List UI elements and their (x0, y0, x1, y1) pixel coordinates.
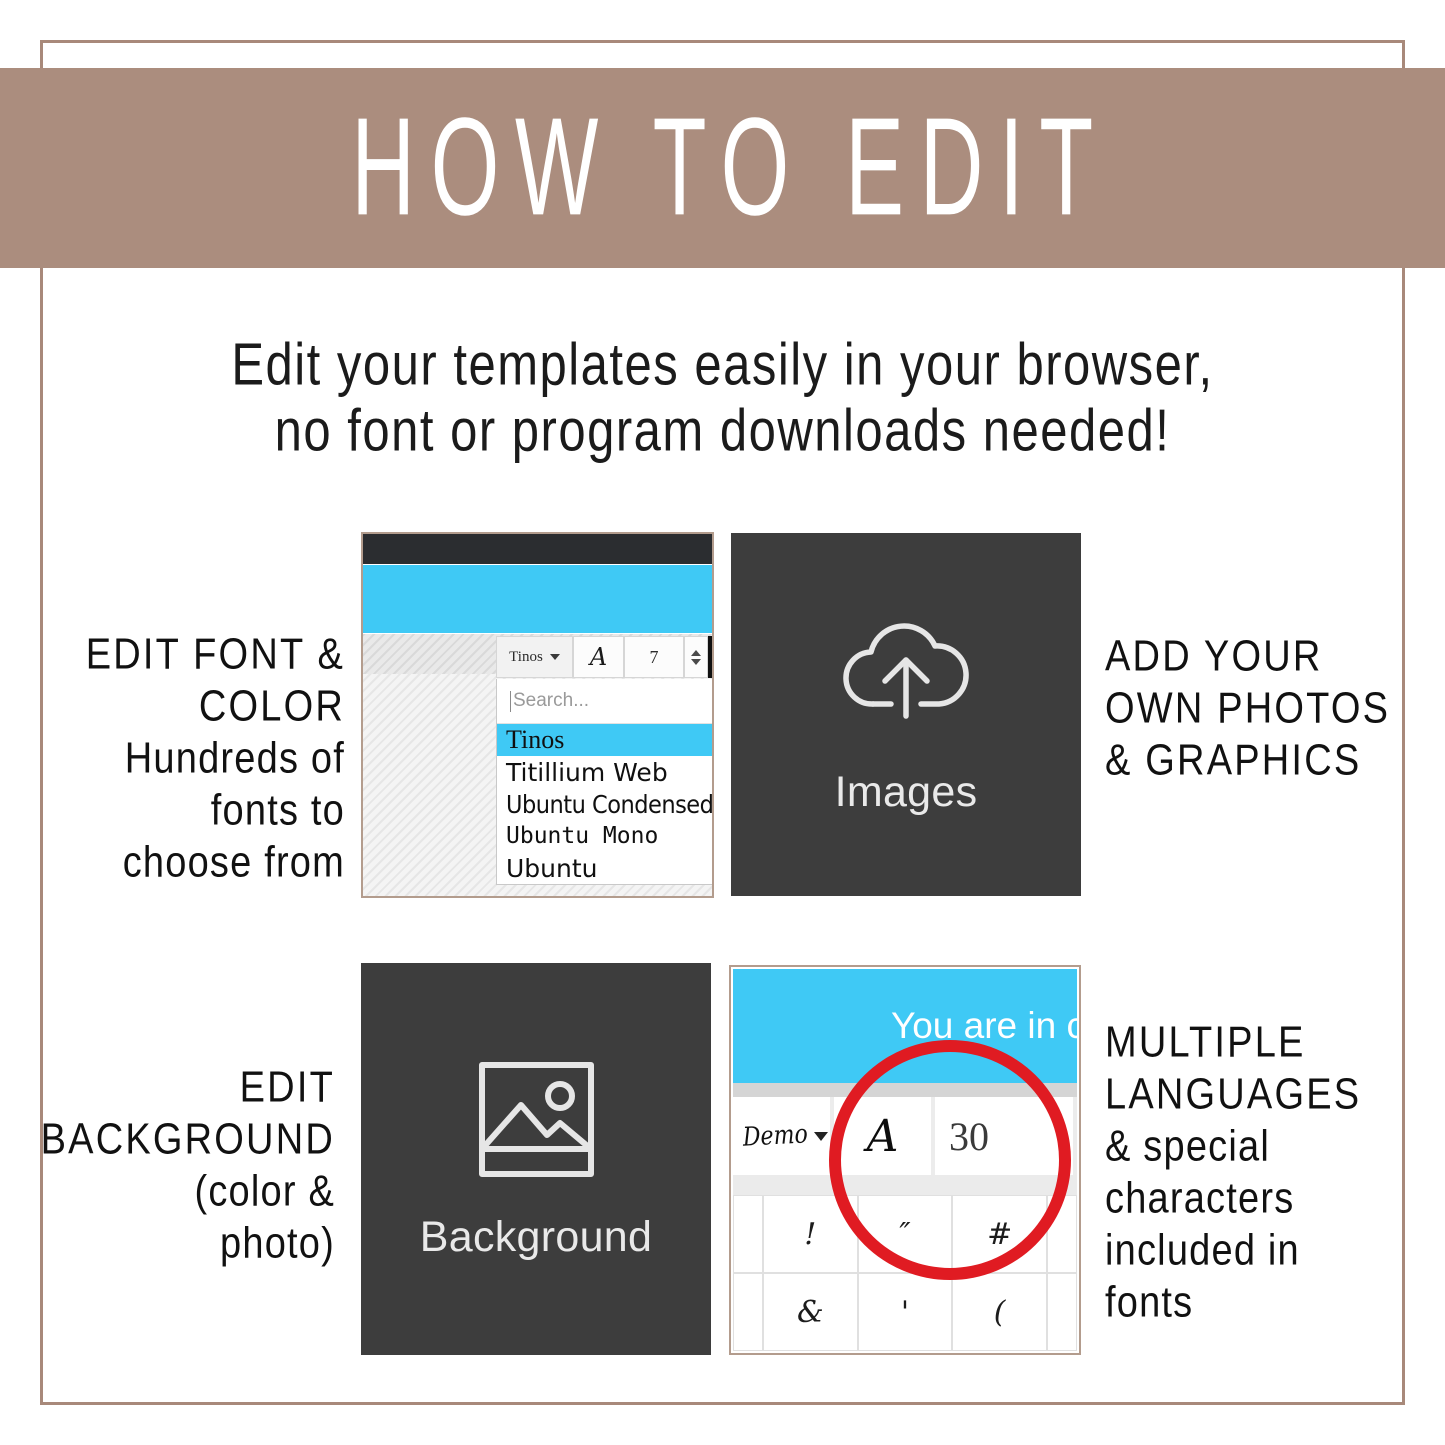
script-a-icon: A (590, 643, 607, 671)
cloud-upload-icon (821, 612, 991, 742)
character-cell[interactable]: ( (952, 1273, 1047, 1351)
font-toolbar: Tinos A 7 (496, 636, 714, 678)
character-cell[interactable]: # (952, 1195, 1047, 1273)
caption-line: & GRAPHICS (1105, 731, 1435, 791)
font-list-item-label: Ubuntu Condensed (506, 790, 713, 819)
subtitle-line-2: no font or program downloads needed! (0, 398, 1445, 464)
font-search-input[interactable]: Search... (497, 679, 714, 724)
character-cell[interactable]: & (763, 1273, 858, 1351)
font-size-input[interactable]: 30 (935, 1097, 1077, 1175)
screenshot-character-map: You are in c Demo A 30 ! ″ # & ' ( (729, 965, 1081, 1355)
images-tile-label: Images (835, 768, 978, 817)
font-list-item-label: Ubuntu Mono (506, 823, 658, 849)
font-preview-glyph-button[interactable]: A (573, 636, 624, 678)
font-list-item[interactable]: Titillium Web (497, 756, 714, 788)
font-name-dropdown[interactable]: Tinos (496, 636, 573, 678)
font-name-label: Tinos (509, 649, 543, 666)
caption-line: COLOR (86, 677, 345, 737)
font-size-stepper[interactable] (684, 636, 708, 678)
stepper-up-icon[interactable] (691, 650, 701, 656)
toolbar-divider (733, 1083, 1077, 1097)
toolbar-color-swatch[interactable] (708, 636, 714, 678)
character-cell[interactable] (1047, 1195, 1077, 1273)
font-name-label: Demo (742, 1119, 809, 1152)
caption-line: (color & (41, 1162, 335, 1222)
font-list-item[interactable]: Tinos (497, 724, 714, 756)
font-list-item-label: Titillium Web (506, 758, 668, 787)
header-banner: HOW TO EDIT (0, 68, 1445, 268)
character-cell[interactable]: ! (763, 1195, 858, 1273)
text-cursor-icon (510, 691, 511, 712)
font-name-dropdown[interactable]: Demo (733, 1097, 834, 1175)
caption-line: Hundreds of (86, 729, 345, 789)
editor-accent-band (363, 565, 712, 633)
screenshot-background-tile[interactable]: Background (361, 963, 711, 1355)
caption-line: choose from (86, 833, 345, 893)
character-map-toolbar: Demo A 30 (733, 1097, 1077, 1175)
editor-accent-banner: You are in c (733, 969, 1077, 1083)
font-size-value: 30 (949, 1113, 989, 1160)
font-list-item-label: Tinos (506, 725, 564, 755)
screenshot-font-picker: Tinos A 7 Search... Tinos Titillium Web … (361, 532, 714, 898)
grid-header-strip (733, 1175, 1077, 1195)
editor-banner-text: You are in c (891, 1005, 1081, 1047)
font-search-placeholder: Search... (513, 690, 589, 712)
caption-line: ADD YOUR (1105, 627, 1435, 687)
font-size-input[interactable]: 7 (624, 636, 684, 678)
character-cell[interactable] (733, 1195, 763, 1273)
background-tile-label: Background (420, 1213, 653, 1262)
chevron-down-icon (550, 654, 560, 660)
caption-line: BACKGROUND (41, 1110, 335, 1170)
character-grid: ! ″ # & ' ( (733, 1195, 1077, 1351)
font-list-item[interactable]: Ubuntu (497, 852, 714, 884)
character-cell[interactable] (733, 1273, 763, 1351)
picture-icon (474, 1057, 599, 1187)
caption-line: photo) (41, 1214, 335, 1274)
caption-line: LANGUAGES (1105, 1065, 1435, 1125)
font-preview-glyph-button[interactable]: A (834, 1097, 935, 1175)
editor-navbar (363, 534, 712, 564)
font-list-item-label: Ubuntu (506, 854, 598, 883)
character-cell[interactable]: ' (858, 1273, 953, 1351)
font-dropdown-panel: Search... Tinos Titillium Web Ubuntu Con… (496, 679, 714, 885)
character-cell[interactable] (1047, 1273, 1077, 1351)
caption-line: EDIT FONT & (86, 625, 345, 685)
page-title: HOW TO EDIT (336, 98, 1109, 237)
font-size-value: 7 (650, 647, 659, 668)
caption-line: included in (1105, 1221, 1435, 1281)
caption-line: fonts (1105, 1273, 1435, 1333)
caption-line: OWN PHOTOS (1105, 679, 1435, 739)
caption-line: EDIT (41, 1058, 335, 1118)
caption-line: & special (1105, 1117, 1435, 1177)
character-cell[interactable]: ″ (858, 1195, 953, 1273)
chevron-down-icon (814, 1132, 828, 1141)
script-a-icon: A (867, 1111, 899, 1162)
font-list-item[interactable]: Ubuntu Mono (497, 820, 714, 852)
subtitle-line-1: Edit your templates easily in your brows… (0, 332, 1445, 398)
caption-edit-font-color: EDIT FONT & COLOR Hundreds of fonts to c… (86, 625, 345, 885)
screenshot-images-tile[interactable]: Images (731, 533, 1081, 896)
caption-multiple-languages: MULTIPLE LANGUAGES & special characters … (1105, 1013, 1435, 1325)
caption-line: MULTIPLE (1105, 1013, 1435, 1073)
font-list-item[interactable]: Ubuntu Condensed (497, 788, 714, 820)
caption-line: fonts to (86, 781, 345, 841)
stepper-down-icon[interactable] (691, 659, 701, 665)
caption-add-photos: ADD YOUR OWN PHOTOS & GRAPHICS (1105, 627, 1435, 783)
caption-edit-background: EDIT BACKGROUND (color & photo) (41, 1058, 335, 1266)
caption-line: characters (1105, 1169, 1435, 1229)
subtitle: Edit your templates easily in your brows… (0, 332, 1445, 464)
